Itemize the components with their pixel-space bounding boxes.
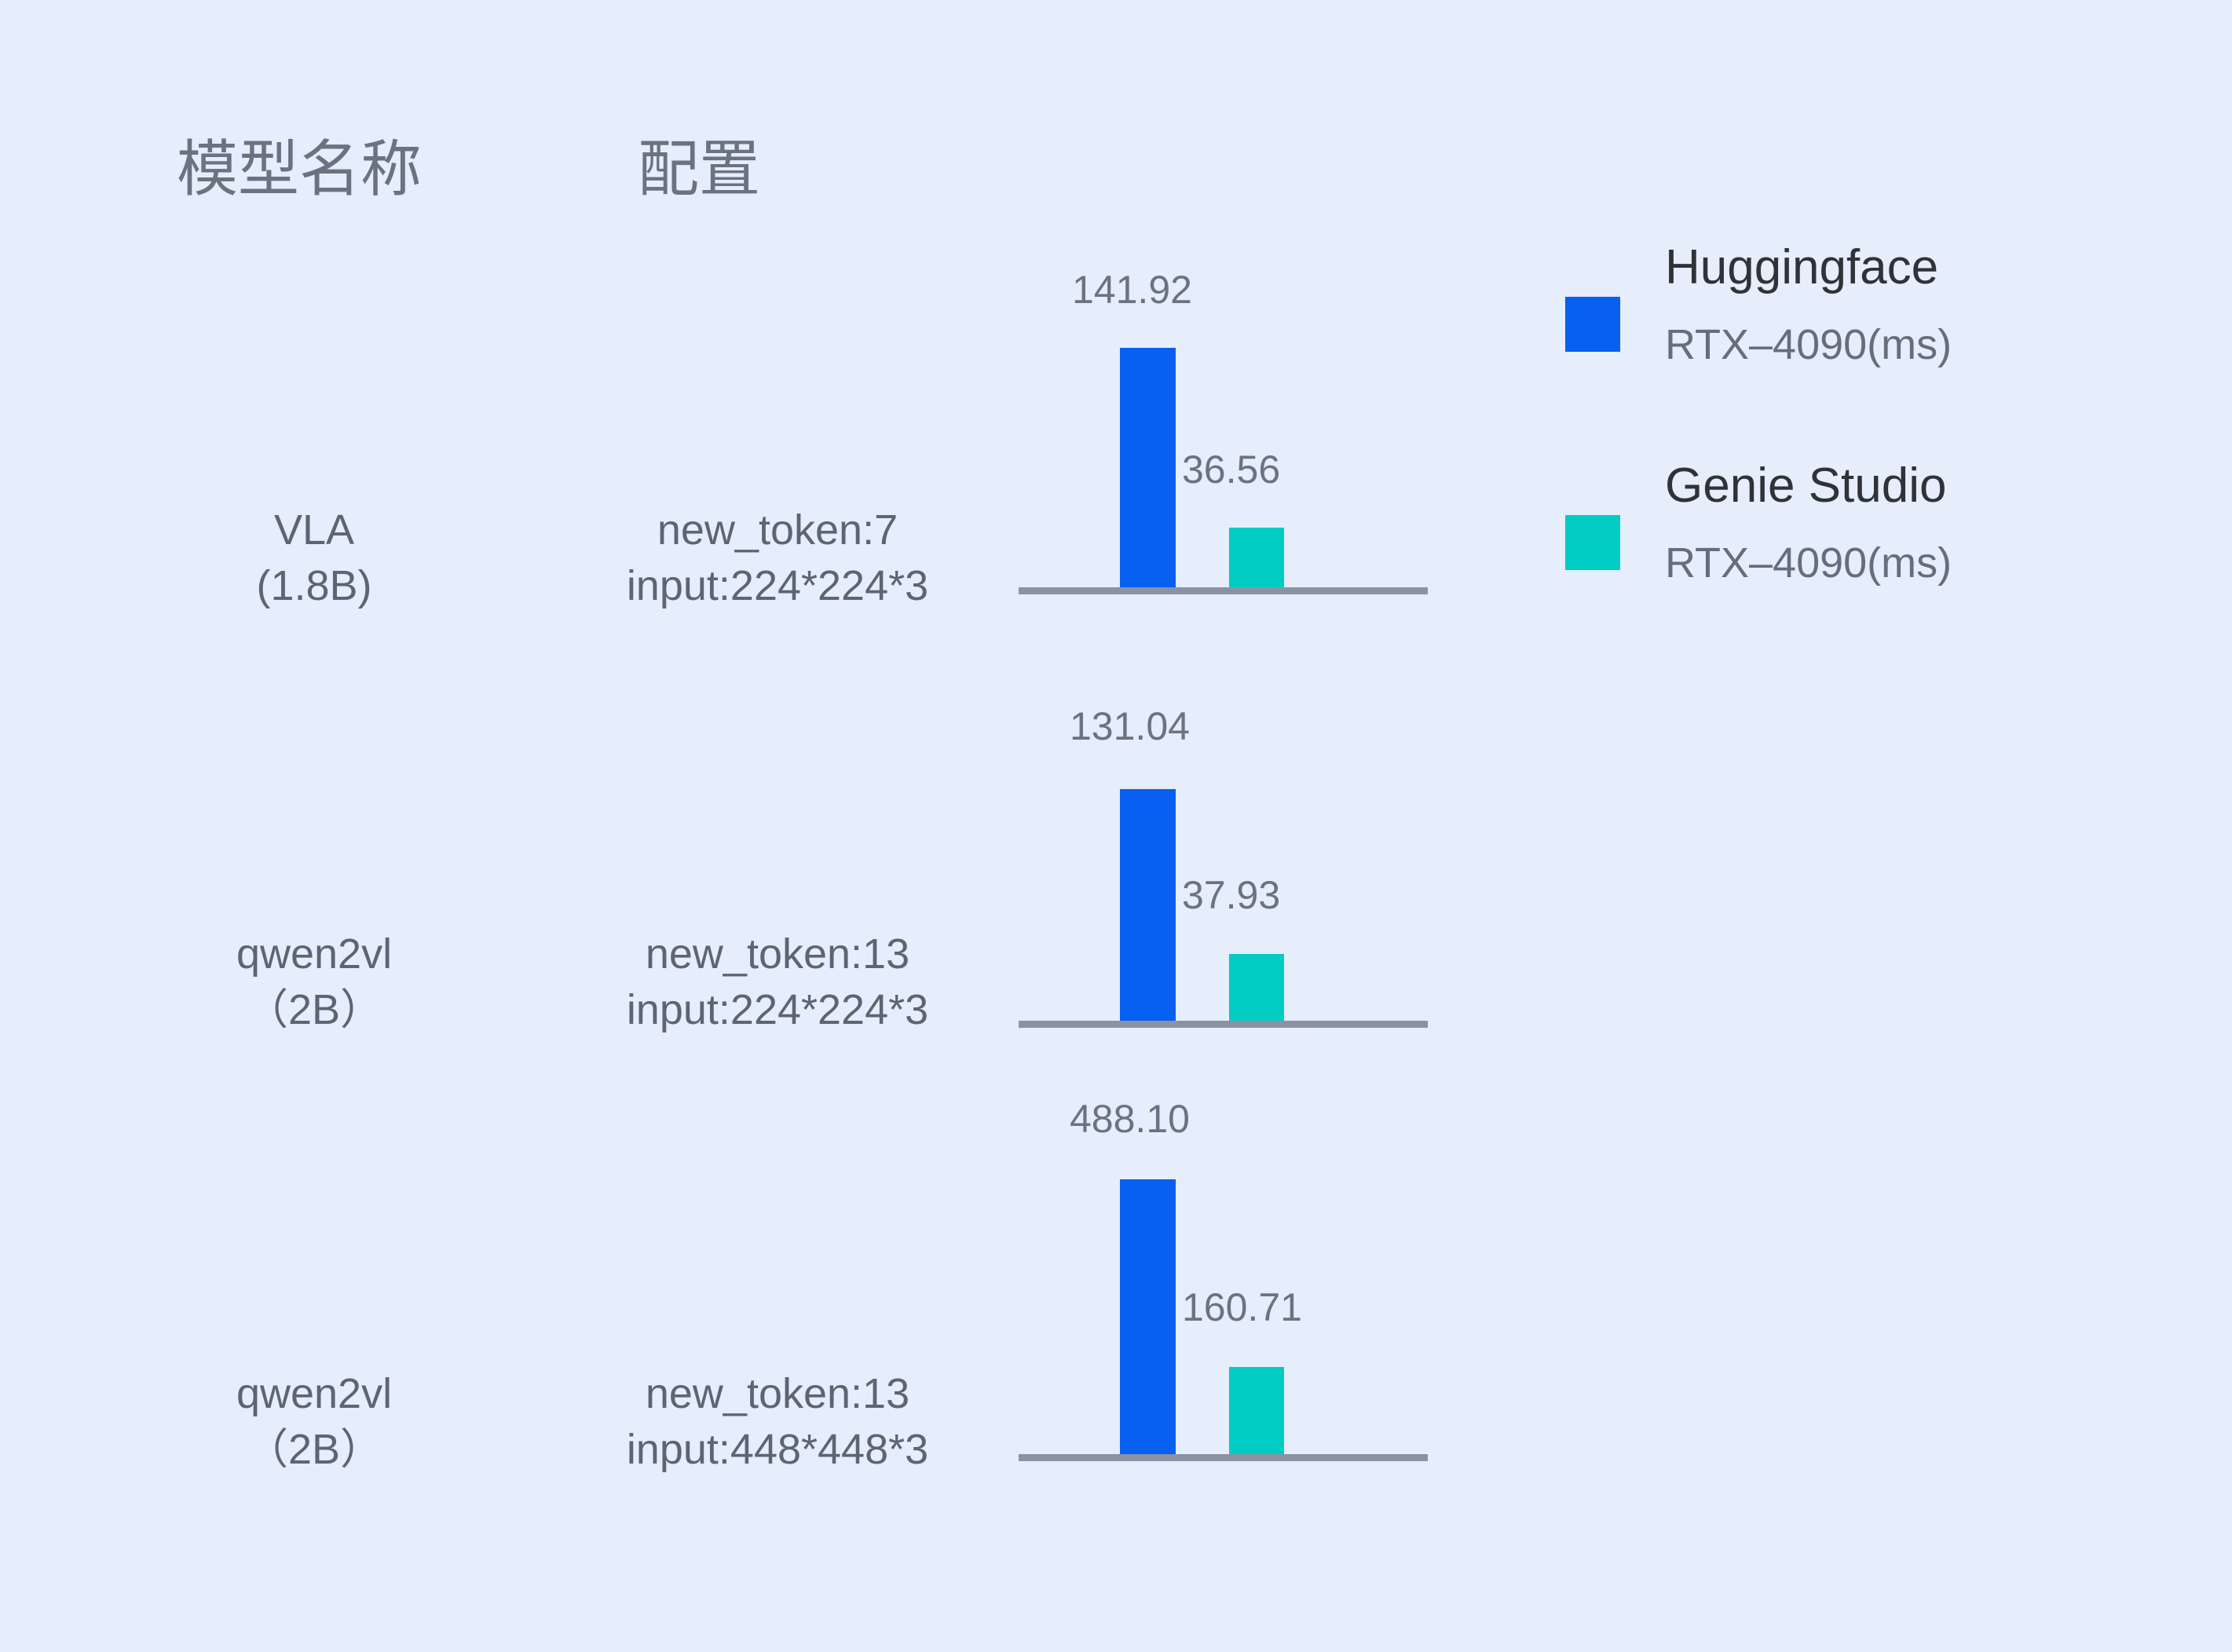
legend-swatch-teal-icon xyxy=(1565,515,1620,570)
row-config-line1-1: new_token:13 xyxy=(646,930,909,978)
row-model-line2-0: (1.8B) xyxy=(126,558,503,614)
legend-sub-genie-studio: RTX–4090(ms) xyxy=(1665,542,1952,584)
row-label-model-2: qwen2vl （2B） xyxy=(126,1366,503,1478)
row-model-line1-2: qwen2vl xyxy=(236,1370,392,1417)
row-config-line1-2: new_token:13 xyxy=(646,1370,909,1417)
bar-value-genie-2: 160.71 xyxy=(1182,1288,1302,1327)
legend-name-genie-studio: Genie Studio xyxy=(1665,462,1946,510)
axis-baseline-1 xyxy=(1019,1021,1428,1028)
bar-genie-2[interactable] xyxy=(1229,1367,1284,1454)
row-label-config-1: new_token:13 input:224*224*3 xyxy=(503,927,1052,1039)
row-model-line1-1: qwen2vl xyxy=(236,930,392,978)
bar-value-huggingface-2: 488.10 xyxy=(1070,1099,1190,1138)
chart-row-2: 488.10 160.71 xyxy=(1013,1091,1437,1486)
bar-value-huggingface-0: 141.92 xyxy=(1072,270,1192,309)
axis-baseline-2 xyxy=(1019,1454,1428,1461)
bar-genie-1[interactable] xyxy=(1229,954,1284,1021)
row-model-line2-1: （2B） xyxy=(126,982,503,1038)
bar-huggingface-1[interactable] xyxy=(1120,789,1176,1021)
row-label-model-1: qwen2vl （2B） xyxy=(126,927,503,1039)
row-config-line2-2: input:448*448*3 xyxy=(503,1422,1052,1478)
bar-value-genie-0: 36.56 xyxy=(1182,450,1280,489)
bar-value-huggingface-1: 131.04 xyxy=(1070,707,1190,746)
row-label-model-0: VLA (1.8B) xyxy=(126,503,503,615)
row-config-line2-1: input:224*224*3 xyxy=(503,982,1052,1038)
chart-row-0: 141.92 36.56 xyxy=(1013,259,1437,619)
bar-genie-0[interactable] xyxy=(1229,528,1284,587)
column-header-model-name: 模型名称 xyxy=(177,138,422,199)
row-model-line1-0: VLA xyxy=(274,506,354,554)
chart-row-1: 131.04 37.93 xyxy=(1013,699,1437,1052)
row-config-line1-0: new_token:7 xyxy=(657,506,898,554)
legend-swatch-blue-icon xyxy=(1565,297,1620,352)
row-model-line2-2: （2B） xyxy=(126,1422,503,1478)
legend-name-huggingface: Huggingface xyxy=(1665,243,1938,292)
row-label-config-2: new_token:13 input:448*448*3 xyxy=(503,1366,1052,1478)
chart-canvas: 模型名称 配置 VLA (1.8B) new_token:7 input:224… xyxy=(0,0,2232,1652)
bar-huggingface-0[interactable] xyxy=(1120,348,1176,587)
axis-baseline-0 xyxy=(1019,587,1428,594)
column-header-config: 配置 xyxy=(638,138,760,199)
legend-sub-huggingface: RTX–4090(ms) xyxy=(1665,323,1952,366)
row-config-line2-0: input:224*224*3 xyxy=(503,558,1052,614)
row-label-config-0: new_token:7 input:224*224*3 xyxy=(503,503,1052,615)
bar-value-genie-1: 37.93 xyxy=(1182,875,1280,915)
bar-huggingface-2[interactable] xyxy=(1120,1179,1176,1460)
